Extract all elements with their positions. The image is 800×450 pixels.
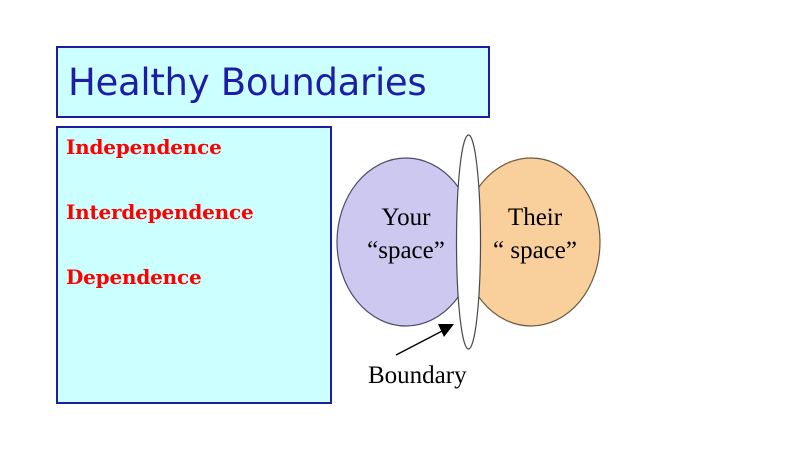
bullet-list: Independence Interdependence Dependence <box>66 134 328 329</box>
content-box: Independence Interdependence Dependence <box>56 126 332 404</box>
boundary-callout-arrowhead <box>438 324 454 337</box>
title-box: Healthy Boundaries <box>56 46 490 118</box>
venn-diagram-svg: Your “space” Their “ space” Boundary <box>330 125 620 400</box>
boundary-callout-label: Boundary <box>368 362 467 389</box>
list-item: Dependence <box>66 264 328 329</box>
your-space-label-line2: “space” <box>367 237 445 264</box>
boundary-ellipse <box>457 135 481 349</box>
their-space-label-line1: Their <box>508 204 563 231</box>
boundary-callout-line <box>396 328 448 355</box>
venn-boundaries-diagram: Your “space” Their “ space” Boundary <box>330 125 620 400</box>
list-item: Independence <box>66 134 328 199</box>
their-space-label-line2: “ space” <box>493 237 577 264</box>
page-title: Healthy Boundaries <box>68 54 426 112</box>
your-space-label-line1: Your <box>382 204 432 231</box>
slide-canvas: Healthy Boundaries Independence Interdep… <box>0 0 800 450</box>
list-item: Interdependence <box>66 199 328 264</box>
